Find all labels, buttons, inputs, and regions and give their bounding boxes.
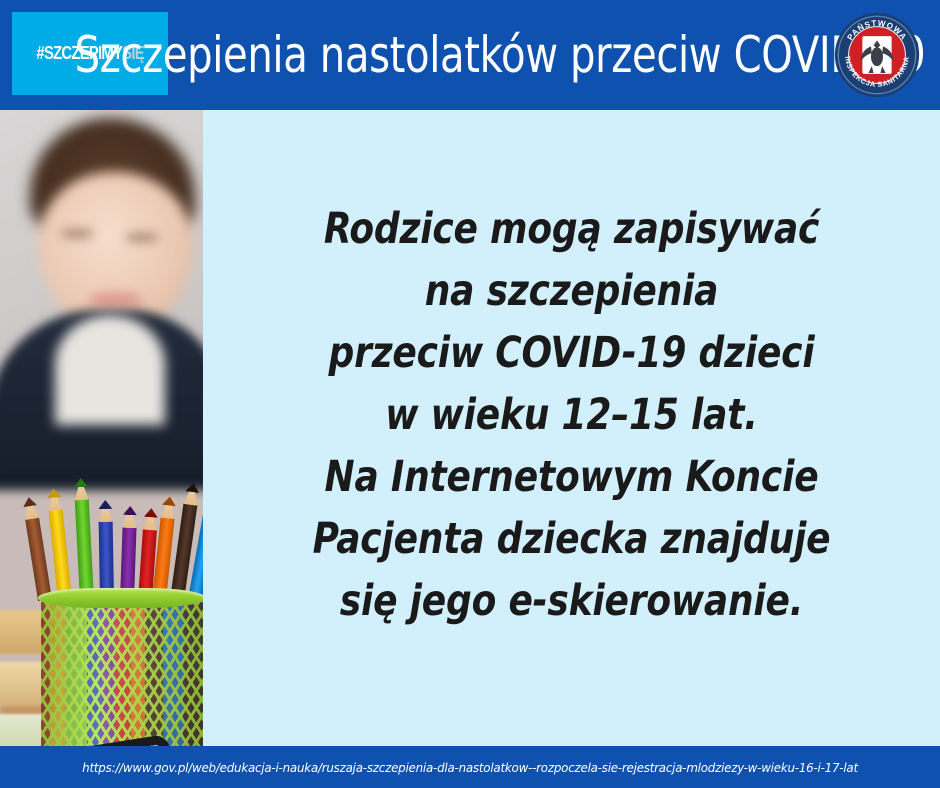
photo-boy-eye-left [60,228,94,239]
pencil-purple [120,506,137,600]
message-panel: Rodzice mogą zapisywać na szczepienia pr… [203,110,940,746]
pencil-brown [22,496,52,601]
pencil-cup-shading [41,602,203,746]
page-title: Szczepienia nastolatków przeciw COVID-19 [196,0,804,110]
source-url[interactable]: https://www.gov.pl/web/edukacja-i-nauka/… [82,760,858,775]
coloured-pencils-group [36,490,203,600]
green-mesh-pencil-cup [38,588,203,746]
schoolboy-pencils-photo [0,110,203,746]
poster-header: #SZCZEPIMYSIĘ Szczepienia nastolatków pr… [0,0,940,110]
pencil-blue [98,500,114,600]
photo-boy-mouth [88,292,143,307]
poster-footer: https://www.gov.pl/web/edukacja-i-nauka/… [0,746,940,788]
vaccination-info-poster: #SZCZEPIMYSIĘ Szczepienia nastolatków pr… [0,0,940,788]
pencil-yellow [46,488,72,601]
pencil-green [74,478,94,601]
message-text: Rodzice mogą zapisywać na szczepienia pr… [229,198,914,632]
panstwowa-inspekcja-sanitarna-emblem-icon: PAŃSTWOWA INSPEKCJA SANITARNA [834,12,920,98]
pencil-cup-rim [38,588,203,608]
photo-boy-shirt [55,315,165,425]
photo-boy-eye-right [125,232,159,243]
